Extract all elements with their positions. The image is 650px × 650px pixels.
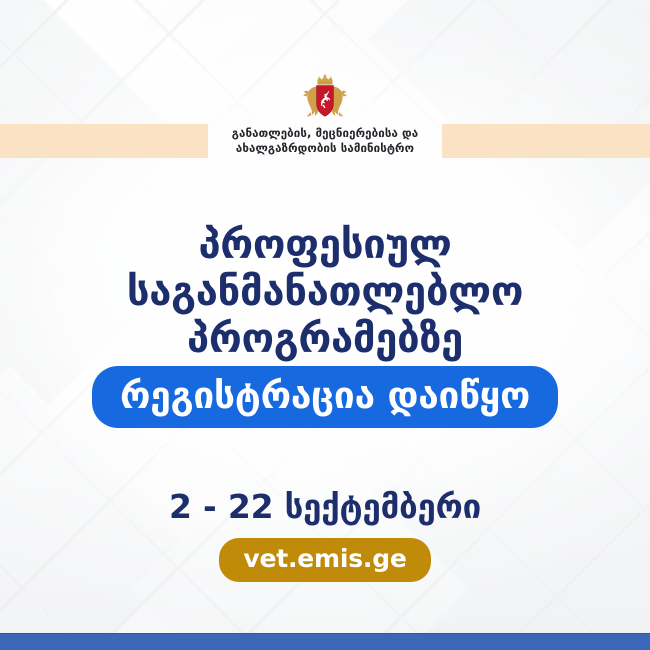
url-badge-row: vet.emis.ge (0, 538, 650, 582)
ministry-caption: განათლების, მეცნიერებისა და ახალგაზრდობი… (0, 126, 650, 156)
emblem-container (0, 72, 650, 128)
bottom-accent-bar (0, 633, 650, 650)
page-title: პროფესიულ საგანმანათლებლო პროგრამებზე (0, 222, 650, 363)
registration-open-badge: რეგისტრაცია დაიწყო (92, 366, 558, 428)
date-range-text: 2 - 22 სექტემბერი (0, 489, 650, 525)
website-url-badge[interactable]: vet.emis.ge (219, 538, 430, 582)
georgia-coat-of-arms-icon (299, 72, 351, 128)
chevron-wedge (130, 420, 469, 650)
highlight-badge-row: რეგისტრაცია დაიწყო (0, 366, 650, 428)
poster-canvas: განათლების, მეცნიერებისა და ახალგაზრდობი… (0, 0, 650, 650)
